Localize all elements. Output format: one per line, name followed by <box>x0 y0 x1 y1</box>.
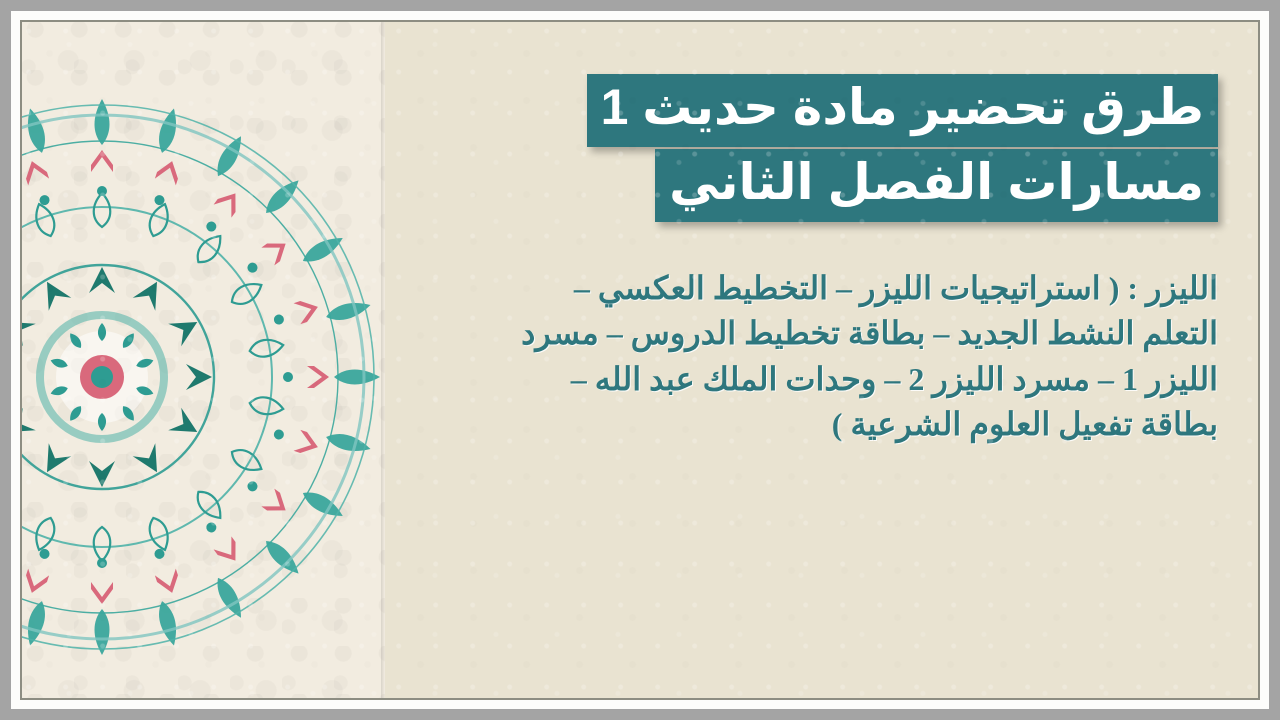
decorative-panel <box>22 22 385 698</box>
title-line-2: مسارات الفصل الثاني <box>655 149 1218 222</box>
slide-canvas: طرق تحضير مادة حديث 1 مسارات الفصل الثان… <box>22 22 1258 698</box>
body-paragraph: الليزر : ( استراتيجيات الليزر – التخطيط … <box>496 266 1218 448</box>
decorative-panel-edge <box>381 22 385 698</box>
slide-root: طرق تحضير مادة حديث 1 مسارات الفصل الثان… <box>0 0 1280 720</box>
title-line-1: طرق تحضير مادة حديث 1 <box>587 74 1218 147</box>
title-block: طرق تحضير مادة حديث 1 مسارات الفصل الثان… <box>448 74 1218 222</box>
mandala-icon <box>22 77 385 677</box>
content-column: طرق تحضير مادة حديث 1 مسارات الفصل الثان… <box>448 22 1218 698</box>
